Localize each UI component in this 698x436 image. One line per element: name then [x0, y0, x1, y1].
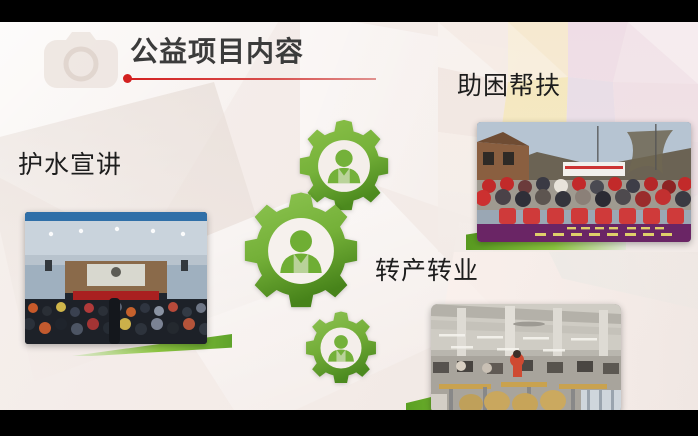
presentation-slide-viewer: 公益项目内容: [0, 0, 698, 436]
letterbox-top: [0, 0, 698, 22]
title-accent-dot: [123, 74, 132, 83]
caption-section-1: 护水宣讲: [18, 145, 122, 181]
photo-conference-hall[interactable]: [25, 212, 207, 344]
page-title: 公益项目内容: [130, 38, 304, 66]
photo-garment-factory[interactable]: [431, 304, 621, 410]
caption-section-3: 转产转业: [375, 251, 479, 287]
gear-small: [303, 310, 379, 386]
title-underline-rule: [128, 78, 376, 80]
camera-icon: [42, 30, 120, 90]
photo-village-donation[interactable]: [477, 122, 691, 242]
gear-big: [240, 190, 362, 312]
caption-section-2: 助困帮扶: [457, 66, 561, 102]
slide-canvas: 公益项目内容: [0, 22, 698, 410]
letterbox-bottom: [0, 410, 698, 436]
